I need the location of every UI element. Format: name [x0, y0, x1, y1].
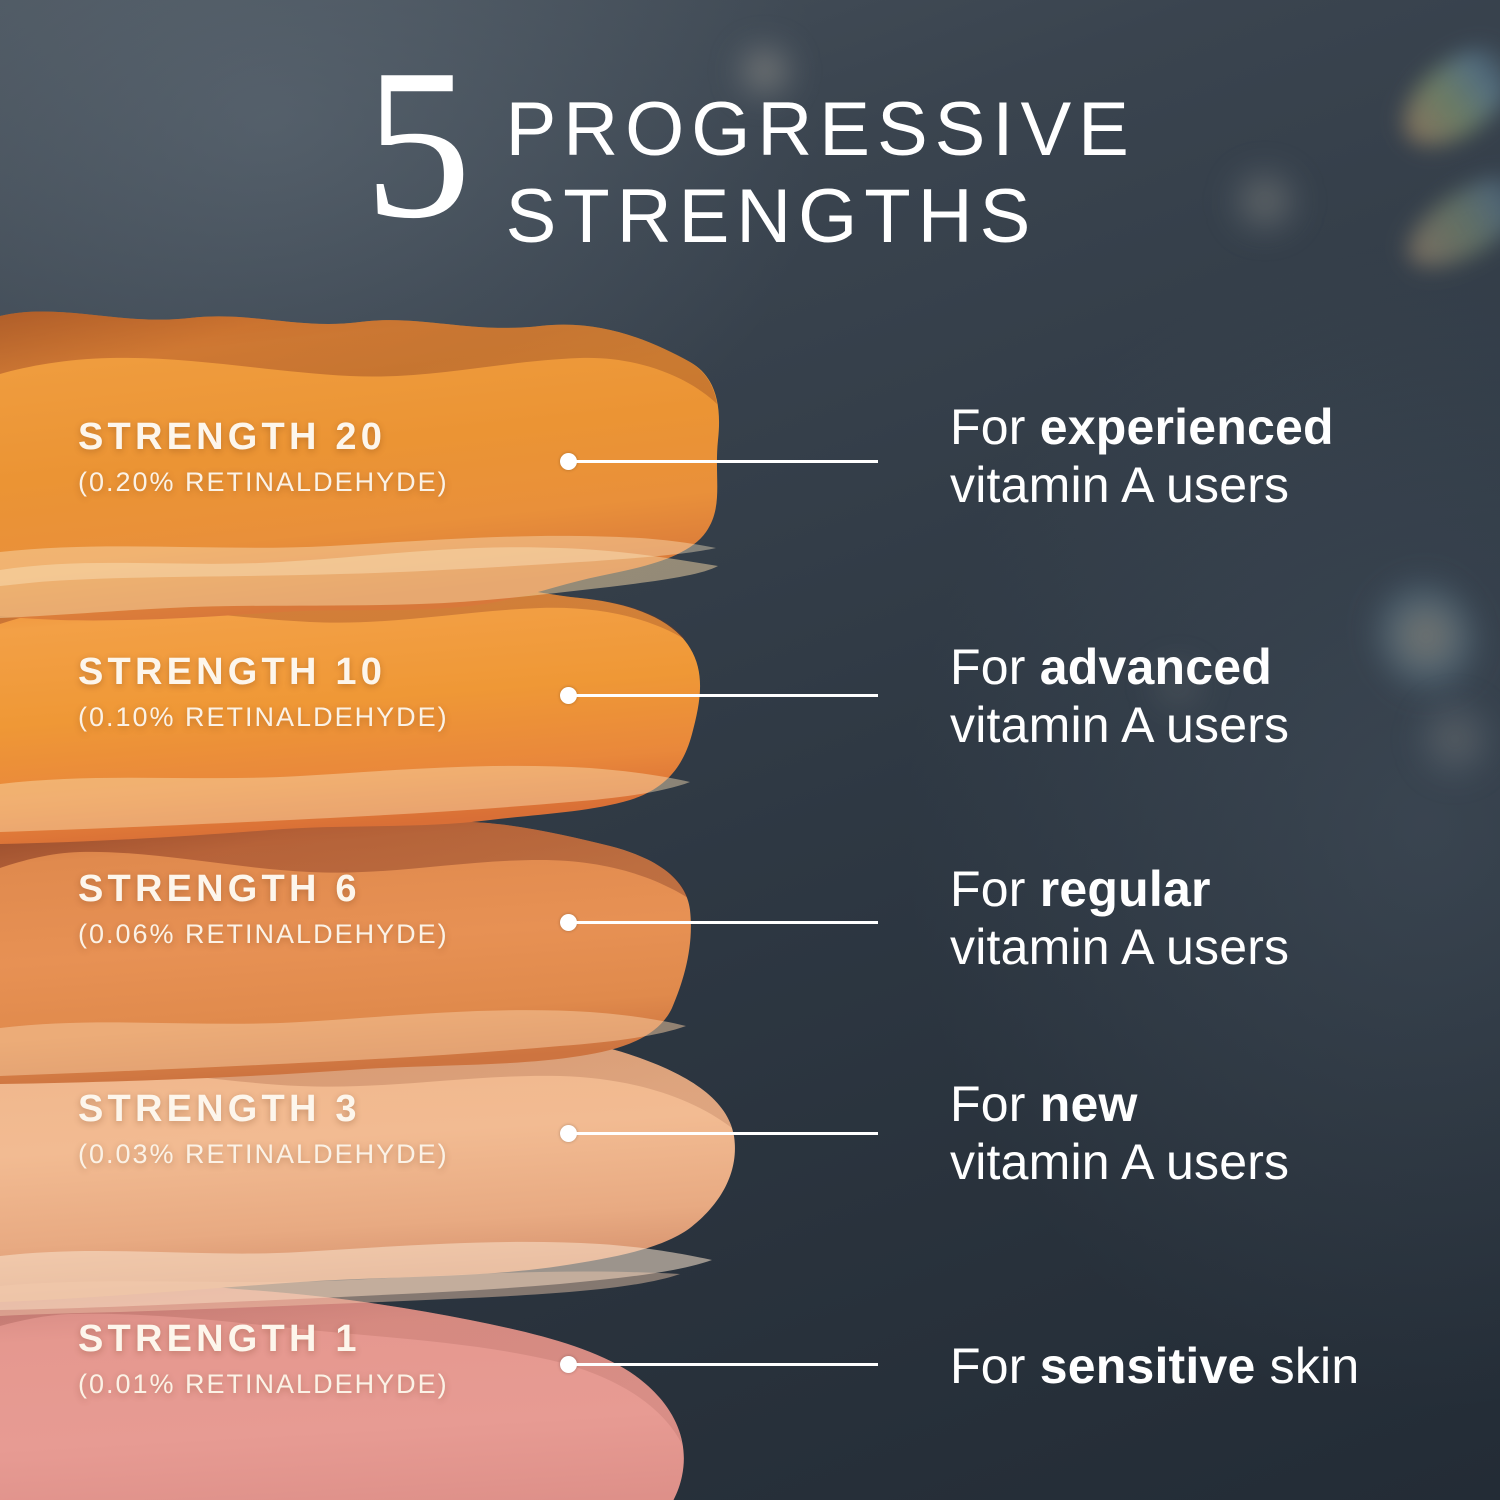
strength-title: STRENGTH 10: [78, 653, 449, 691]
page-title: 5 PROGRESSIVE STRENGTHS: [0, 58, 1500, 261]
audience-line-1: For new: [950, 1075, 1289, 1133]
audience-line-1: For experienced: [950, 398, 1334, 456]
audience-strength-10: For advanced vitamin A users: [950, 638, 1289, 754]
audience-prefix: For: [950, 1076, 1040, 1132]
product-strength-infographic: 5 PROGRESSIVE STRENGTHS: [0, 0, 1500, 1500]
audience-emphasis: regular: [1040, 861, 1211, 917]
label-strength-20: STRENGTH 20 (0.20% RETINALDEHYDE): [78, 418, 449, 496]
audience-strength-6: For regular vitamin A users: [950, 860, 1289, 976]
label-strength-6: STRENGTH 6 (0.06% RETINALDEHYDE): [78, 870, 449, 948]
title-word-progressive: PROGRESSIVE: [506, 86, 1136, 173]
label-strength-3: STRENGTH 3 (0.03% RETINALDEHYDE): [78, 1090, 449, 1168]
audience-emphasis: advanced: [1040, 639, 1272, 695]
audience-emphasis: sensitive: [1040, 1338, 1256, 1394]
audience-line-2: vitamin A users: [950, 1133, 1289, 1191]
audience-emphasis: experienced: [1040, 399, 1334, 455]
label-strength-1: STRENGTH 1 (0.01% RETINALDEHYDE): [78, 1320, 449, 1398]
audience-line-2: vitamin A users: [950, 696, 1289, 754]
connector-line: [575, 921, 878, 924]
strength-concentration: (0.03% RETINALDEHYDE): [78, 1141, 449, 1168]
label-strength-10: STRENGTH 10 (0.10% RETINALDEHYDE): [78, 653, 449, 731]
audience-strength-1: For sensitive skin: [950, 1337, 1359, 1395]
bokeh-flare-mid-right: [1361, 566, 1492, 706]
title-word-strengths: STRENGTHS: [506, 173, 1136, 260]
strength-title: STRENGTH 1: [78, 1320, 449, 1358]
connector-line: [575, 1363, 878, 1366]
audience-line-2: vitamin A users: [950, 456, 1334, 514]
connector-strength-10: [560, 686, 878, 704]
audience-line-2: vitamin A users: [950, 918, 1289, 976]
connector-strength-6: [560, 913, 878, 931]
connector-line: [575, 694, 878, 697]
audience-prefix: For: [950, 399, 1040, 455]
audience-prefix: For: [950, 1338, 1040, 1394]
audience-strength-20: For experienced vitamin A users: [950, 398, 1334, 514]
connector-line: [575, 460, 878, 463]
audience-suffix: skin: [1256, 1338, 1360, 1394]
audience-line-1: For regular: [950, 860, 1289, 918]
audience-strength-3: For new vitamin A users: [950, 1075, 1289, 1191]
audience-emphasis: new: [1040, 1076, 1138, 1132]
strength-title: STRENGTH 6: [78, 870, 449, 908]
strength-concentration: (0.06% RETINALDEHYDE): [78, 921, 449, 948]
strength-title: STRENGTH 20: [78, 418, 449, 456]
title-numeral: 5: [364, 52, 472, 237]
audience-line-1: For sensitive skin: [950, 1337, 1359, 1395]
audience-line-1: For advanced: [950, 638, 1289, 696]
strength-concentration: (0.01% RETINALDEHYDE): [78, 1371, 449, 1398]
strength-title: STRENGTH 3: [78, 1090, 449, 1128]
connector-strength-1: [560, 1355, 878, 1373]
bokeh-flare-right-lower: [1420, 700, 1490, 778]
audience-prefix: For: [950, 639, 1040, 695]
audience-prefix: For: [950, 861, 1040, 917]
connector-line: [575, 1132, 878, 1135]
strength-concentration: (0.20% RETINALDEHYDE): [78, 469, 449, 496]
strength-concentration: (0.10% RETINALDEHYDE): [78, 704, 449, 731]
connector-strength-20: [560, 452, 878, 470]
connector-strength-3: [560, 1124, 878, 1142]
